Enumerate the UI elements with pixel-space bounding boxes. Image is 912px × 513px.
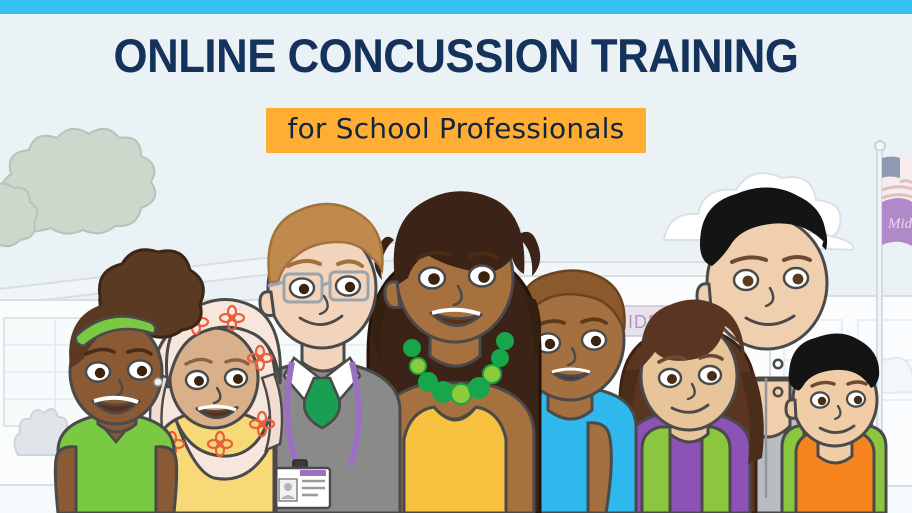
- pennant-text: Mid: [887, 216, 912, 232]
- banner-illustration: MIDDL: [0, 0, 912, 513]
- banner-subtitle-wrap: for School Professionals: [0, 108, 912, 153]
- banner-title: ONLINE CONCUSSION TRAINING: [32, 30, 880, 82]
- banner-subtitle-badge: for School Professionals: [266, 108, 647, 153]
- earring: [154, 378, 162, 386]
- character-boy-orange-shirt: [782, 333, 886, 513]
- top-accent-bar: [0, 0, 912, 14]
- school-pennant: Mid: [882, 198, 912, 246]
- banner-title-wrap: ONLINE CONCUSSION TRAINING: [0, 30, 912, 82]
